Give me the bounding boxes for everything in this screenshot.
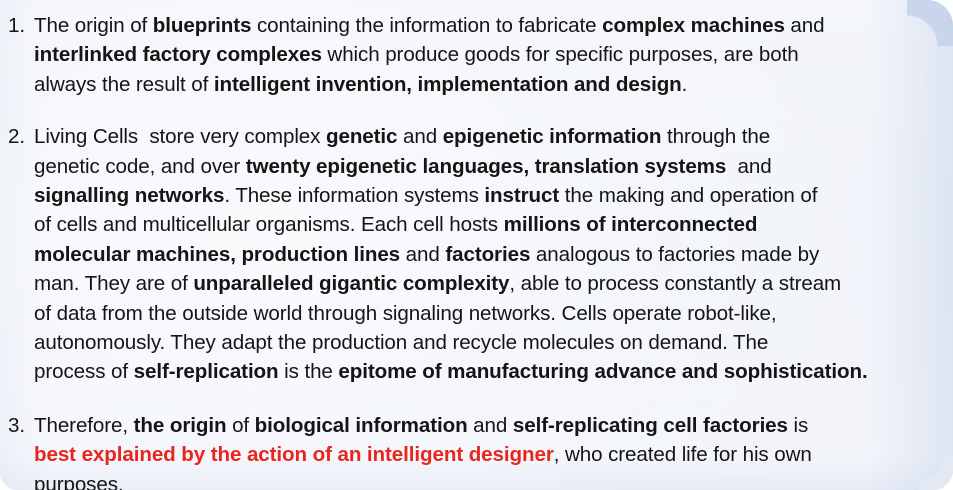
emphasis-text-bold: epitome of manufacturing advance and sop… <box>338 360 867 383</box>
body-text: the making and operation of <box>559 184 817 207</box>
emphasis-text-bold: complex machines <box>602 14 785 37</box>
body-text: and <box>468 414 513 437</box>
emphasis-text-bold: biological information <box>255 414 468 437</box>
emphasis-text-bold: intelligent invention, implementation an… <box>214 73 682 96</box>
emphasis-text-bold: molecular machines, production lines <box>34 243 400 266</box>
body-text: purposes. <box>34 473 124 490</box>
emphasis-text-bold: blueprints <box>153 14 252 37</box>
text-line: genetic code, and over twenty epigenetic… <box>34 152 943 181</box>
emphasis-text-bold: unparalleled gigantic complexity <box>193 272 509 295</box>
text-line: Therefore, the origin of biological info… <box>34 411 943 440</box>
text-line: signalling networks. These information s… <box>34 181 943 210</box>
body-text: Living Cells store very complex <box>34 125 326 148</box>
list-marker-2: 2. <box>8 122 34 151</box>
slide-text-content: 1. The origin of blueprints containing t… <box>0 0 953 490</box>
emphasis-text-bold: self-replication <box>134 360 279 383</box>
text-line: of data from the outside world through s… <box>34 299 943 328</box>
body-text: of cells and multicellular organisms. Ea… <box>34 213 504 236</box>
list-item-2: 2. Living Cells store very complex genet… <box>8 122 943 387</box>
emphasis-text-bold: signalling networks <box>34 184 224 207</box>
text-line: The origin of blueprints containing the … <box>34 11 943 40</box>
body-text: and <box>397 125 442 148</box>
text-line: autonomously. They adapt the production … <box>34 328 943 357</box>
emphasis-text-bold: factories <box>445 243 530 266</box>
body-text: and <box>785 14 825 37</box>
body-text: , able to process constantly a stream <box>509 272 841 295</box>
text-line: best explained by the action of an intel… <box>34 440 943 469</box>
text-line: of cells and multicellular organisms. Ea… <box>34 210 943 239</box>
text-line: process of self-replication is the epito… <box>34 357 943 386</box>
text-line: molecular machines, production lines and… <box>34 240 943 269</box>
body-text: which produce goods for specific purpose… <box>322 43 799 66</box>
body-text: Therefore, <box>34 414 134 437</box>
text-line: interlinked factory complexes which prod… <box>34 40 943 69</box>
body-text: always the result of <box>34 73 214 96</box>
list-body-1: The origin of blueprints containing the … <box>34 11 943 99</box>
text-line: purposes. <box>34 470 943 490</box>
body-text: autonomously. They adapt the production … <box>34 331 768 354</box>
body-text: process of <box>34 360 134 383</box>
list-body-3: Therefore, the origin of biological info… <box>34 411 943 490</box>
body-text: The origin of <box>34 14 153 37</box>
emphasis-text-bold: self-replicating cell factories <box>513 414 788 437</box>
emphasis-text-bold: millions of interconnected <box>504 213 758 236</box>
body-text: . <box>682 73 688 96</box>
body-text: . These information systems <box>224 184 484 207</box>
text-line: man. They are of unparalleled gigantic c… <box>34 269 943 298</box>
list-marker-3: 3. <box>8 411 34 440</box>
body-text: containing the information to fabricate <box>251 14 602 37</box>
list-item-3: 3. Therefore, the origin of biological i… <box>8 411 943 490</box>
emphasis-text-red: best explained by the action of an intel… <box>34 443 554 466</box>
list-body-2: Living Cells store very complex genetic … <box>34 122 943 387</box>
body-text: through the <box>661 125 770 148</box>
body-text: is <box>788 414 808 437</box>
body-text: , who created life for his own <box>554 443 812 466</box>
body-text: of <box>226 414 254 437</box>
text-line: Living Cells store very complex genetic … <box>34 122 943 151</box>
emphasis-text-bold: interlinked factory complexes <box>34 43 322 66</box>
body-text: is the <box>279 360 339 383</box>
body-text: and <box>726 155 771 178</box>
body-text: of data from the outside world through s… <box>34 302 777 325</box>
list-item-1: 1. The origin of blueprints containing t… <box>8 11 943 99</box>
emphasis-text-bold: instruct <box>484 184 559 207</box>
body-text: genetic code, and over <box>34 155 246 178</box>
slide-canvas: 1. The origin of blueprints containing t… <box>0 0 953 490</box>
emphasis-text-bold: twenty epigenetic languages, translation… <box>246 155 726 178</box>
list-marker-1: 1. <box>8 11 34 40</box>
emphasis-text-bold: genetic <box>326 125 397 148</box>
body-text: and <box>400 243 445 266</box>
emphasis-text-bold: the origin <box>134 414 227 437</box>
emphasis-text-bold: epigenetic information <box>443 125 662 148</box>
body-text: man. They are of <box>34 272 193 295</box>
body-text: analogous to factories made by <box>530 243 819 266</box>
text-line: always the result of intelligent inventi… <box>34 70 943 99</box>
